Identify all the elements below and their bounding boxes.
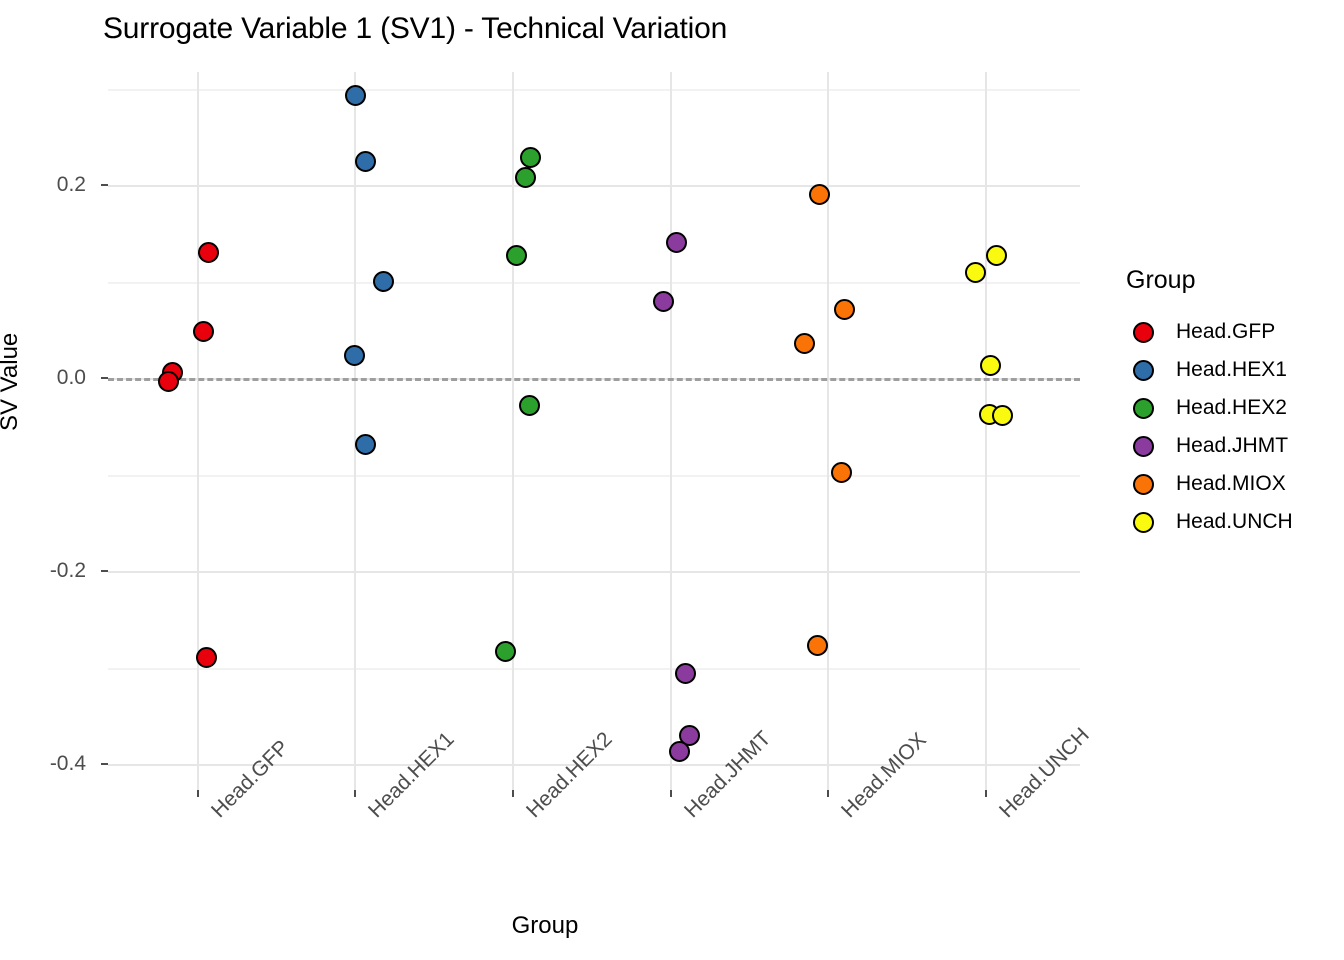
legend-title: Group	[1124, 266, 1334, 295]
data-point	[980, 355, 1001, 376]
x-tick-mark	[827, 790, 829, 797]
data-point	[992, 405, 1013, 426]
x-tick-label: Head.GFP	[207, 806, 224, 823]
y-tick-mark	[101, 570, 108, 572]
data-point	[834, 299, 855, 320]
legend-swatch-circle-icon	[1124, 322, 1162, 343]
legend-item-label: Head.UNCH	[1176, 510, 1293, 534]
legend-item-head-hex2[interactable]: Head.HEX2	[1124, 389, 1334, 427]
gridline-major-vertical	[354, 72, 356, 790]
gridline-major-vertical	[512, 72, 514, 790]
legend-swatch-circle-icon	[1124, 512, 1162, 533]
scatter-plot-figure: Surrogate Variable 1 (SV1) - Technical V…	[0, 0, 1344, 960]
legend-dot-icon	[1133, 398, 1154, 419]
data-point	[515, 167, 536, 188]
legend-dot-icon	[1133, 360, 1154, 381]
data-point	[495, 641, 516, 662]
x-axis-title: Group	[0, 912, 1090, 940]
y-tick-label: 0.0	[57, 366, 86, 390]
gridline-minor-horizontal	[108, 475, 1080, 477]
legend: Group Head.GFPHead.HEX1Head.HEX2Head.JHM…	[1124, 266, 1334, 541]
y-axis-title: SV Value	[0, 333, 24, 431]
x-tick-mark	[512, 790, 514, 797]
data-point	[373, 271, 394, 292]
data-point	[519, 395, 540, 416]
x-tick-label: Head.HEX1	[364, 806, 381, 823]
data-point	[666, 232, 687, 253]
legend-swatch-circle-icon	[1124, 436, 1162, 457]
legend-items: Head.GFPHead.HEX1Head.HEX2Head.JHMTHead.…	[1124, 313, 1334, 541]
legend-item-label: Head.GFP	[1176, 320, 1275, 344]
legend-item-head-jhmt[interactable]: Head.JHMT	[1124, 427, 1334, 465]
legend-swatch-circle-icon	[1124, 474, 1162, 495]
legend-item-label: Head.HEX2	[1176, 396, 1287, 420]
x-tick-label: Head.UNCH	[995, 806, 1012, 823]
data-point	[344, 345, 365, 366]
gridline-minor-horizontal	[108, 282, 1080, 284]
legend-dot-icon	[1133, 436, 1154, 457]
legend-swatch-circle-icon	[1124, 360, 1162, 381]
x-tick-label: Head.JHMT	[680, 806, 697, 823]
gridline-major-vertical	[197, 72, 199, 790]
y-tick-mark	[101, 377, 108, 379]
legend-item-head-miox[interactable]: Head.MIOX	[1124, 465, 1334, 503]
zero-reference-line	[108, 378, 1080, 381]
legend-item-label: Head.HEX1	[1176, 358, 1287, 382]
data-point	[196, 647, 217, 668]
gridline-major-vertical	[985, 72, 987, 790]
data-point	[794, 333, 815, 354]
legend-swatch-circle-icon	[1124, 398, 1162, 419]
data-point	[809, 184, 830, 205]
y-tick-label: 0.2	[57, 173, 86, 197]
legend-item-head-hex1[interactable]: Head.HEX1	[1124, 351, 1334, 389]
data-point	[807, 635, 828, 656]
legend-item-head-unch[interactable]: Head.UNCH	[1124, 503, 1334, 541]
x-tick-mark	[197, 790, 199, 797]
legend-item-label: Head.JHMT	[1176, 434, 1288, 458]
data-point	[986, 245, 1007, 266]
y-tick-label: -0.2	[50, 559, 86, 583]
data-point	[965, 262, 986, 283]
data-point	[831, 462, 852, 483]
gridline-minor-horizontal	[108, 89, 1080, 91]
legend-dot-icon	[1133, 512, 1154, 533]
gridline-minor-horizontal	[108, 668, 1080, 670]
plot-panel	[108, 72, 1080, 790]
data-point	[675, 663, 696, 684]
legend-item-label: Head.MIOX	[1176, 472, 1286, 496]
data-point	[355, 434, 376, 455]
legend-dot-icon	[1133, 474, 1154, 495]
data-point	[345, 85, 366, 106]
x-tick-label: Head.HEX2	[522, 806, 539, 823]
y-tick-mark	[101, 184, 108, 186]
x-tick-mark	[985, 790, 987, 797]
x-tick-mark	[354, 790, 356, 797]
y-tick-mark	[101, 763, 108, 765]
legend-item-head-gfp[interactable]: Head.GFP	[1124, 313, 1334, 351]
y-tick-label: -0.4	[50, 752, 86, 776]
data-point	[198, 242, 219, 263]
data-point	[520, 147, 541, 168]
data-point	[506, 245, 527, 266]
x-tick-mark	[670, 790, 672, 797]
data-point	[193, 321, 214, 342]
page-title: Surrogate Variable 1 (SV1) - Technical V…	[103, 12, 727, 46]
gridline-major-horizontal	[108, 571, 1080, 573]
gridline-major-vertical	[670, 72, 672, 790]
data-point	[669, 741, 690, 762]
legend-dot-icon	[1133, 322, 1154, 343]
data-point	[653, 291, 674, 312]
gridline-major-horizontal	[108, 185, 1080, 187]
gridline-major-vertical	[827, 72, 829, 790]
data-point	[158, 371, 179, 392]
x-tick-label: Head.MIOX	[837, 806, 854, 823]
data-point	[355, 151, 376, 172]
